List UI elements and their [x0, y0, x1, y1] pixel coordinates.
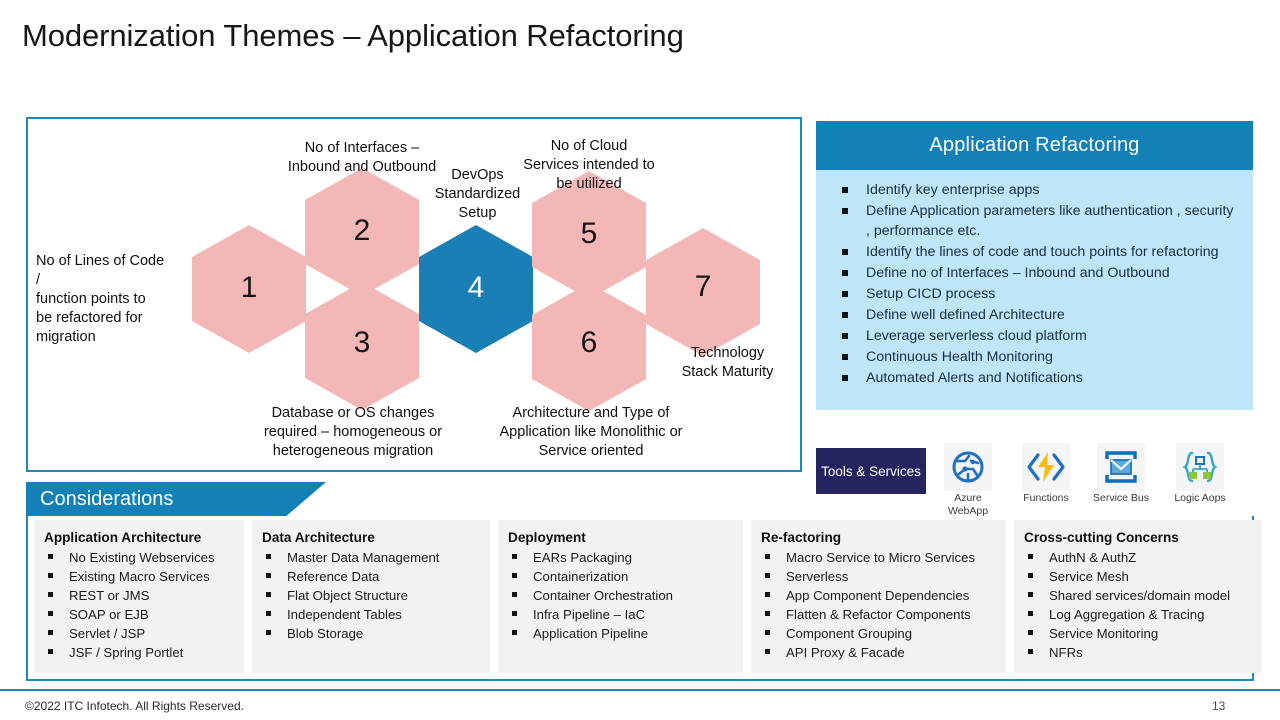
- list-item-label: NFRs: [1049, 645, 1083, 660]
- list-item: Flat Object Structure: [262, 586, 484, 605]
- bullet-square-icon: [842, 354, 848, 360]
- list-item: Containerization: [508, 567, 737, 586]
- card-list: Master Data Management Reference Data Fl…: [262, 548, 484, 643]
- bullet-square-icon: [1028, 554, 1033, 559]
- tool-logic-apps[interactable]: Logic Aops: [1168, 443, 1232, 505]
- list-item: Identify the lines of code and touch poi…: [828, 242, 1241, 262]
- card-title: Data Architecture: [262, 530, 484, 545]
- considerations-card-deployment: Deployment EARs Packaging Containerizati…: [498, 520, 743, 673]
- card-list: Macro Service to Micro Services Serverle…: [761, 548, 1000, 663]
- list-item-label: Component Grouping: [786, 626, 912, 641]
- label-database-os: Database or OS changes required – homoge…: [248, 404, 458, 461]
- list-item: JSF / Spring Portlet: [44, 643, 238, 662]
- list-item-label: Identify the lines of code and touch poi…: [866, 244, 1219, 260]
- bullet-square-icon: [842, 312, 848, 318]
- azure-logic-apps-icon: [1176, 443, 1224, 491]
- list-item: Log Aggregation & Tracing: [1024, 605, 1256, 624]
- tool-label: Service Bus: [1089, 492, 1153, 505]
- card-title: Re-factoring: [761, 530, 1000, 545]
- list-item-label: App Component Dependencies: [786, 588, 969, 603]
- list-item: Continuous Health Monitoring: [828, 347, 1241, 367]
- tool-label: Azure WebApp: [936, 492, 1000, 517]
- tools-and-services-strip: Tools & Services Azure WebApp Functions: [816, 443, 1256, 509]
- tool-label: Logic Aops: [1168, 492, 1232, 505]
- bullet-square-icon: [765, 630, 770, 635]
- list-item-label: Infra Pipeline – IaC: [533, 607, 645, 622]
- list-item-label: Flat Object Structure: [287, 588, 408, 603]
- list-item: Existing Macro Services: [44, 567, 238, 586]
- bullet-square-icon: [48, 649, 53, 654]
- list-item-label: Existing Macro Services: [69, 569, 210, 584]
- azure-functions-icon: [1022, 443, 1070, 491]
- list-item: Application Pipeline: [508, 624, 737, 643]
- bullet-square-icon: [48, 554, 53, 559]
- considerations-card-cross-cutting-concerns: Cross-cutting Concerns AuthN & AuthZ Ser…: [1014, 520, 1262, 673]
- list-item-label: Setup CICD process: [866, 286, 995, 302]
- tool-service-bus[interactable]: Service Bus: [1089, 443, 1153, 505]
- application-refactoring-list: Identify key enterprise apps Define Appl…: [828, 180, 1241, 388]
- application-refactoring-body: Identify key enterprise apps Define Appl…: [816, 170, 1253, 410]
- list-item: Reference Data: [262, 567, 484, 586]
- bullet-square-icon: [765, 573, 770, 578]
- list-item-label: Reference Data: [287, 569, 379, 584]
- tools-services-label: Tools & Services: [816, 448, 926, 494]
- card-list: EARs Packaging Containerization Containe…: [508, 548, 737, 643]
- footer-divider: [0, 689, 1280, 691]
- bullet-square-icon: [266, 630, 271, 635]
- list-item: Service Monitoring: [1024, 624, 1256, 643]
- considerations-card-application-architecture: Application Architecture No Existing Web…: [34, 520, 244, 673]
- list-item-label: REST or JMS: [69, 588, 149, 603]
- azure-webapp-icon: [944, 443, 992, 491]
- list-item-label: No Existing Webservices: [69, 550, 215, 565]
- list-item-label: Blob Storage: [287, 626, 363, 641]
- card-title: Application Architecture: [44, 530, 238, 545]
- list-item-label: JSF / Spring Portlet: [69, 645, 183, 660]
- bullet-square-icon: [1028, 592, 1033, 597]
- bullet-square-icon: [266, 611, 271, 616]
- application-refactoring-panel: Application Refactoring Identify key ent…: [816, 121, 1253, 410]
- list-item-label: Servlet / JSP: [69, 626, 145, 641]
- bullet-square-icon: [266, 554, 271, 559]
- considerations-banner: Considerations: [26, 482, 386, 518]
- list-item: Serverless: [761, 567, 1000, 586]
- bullet-square-icon: [765, 554, 770, 559]
- bullet-square-icon: [842, 333, 848, 339]
- bullet-square-icon: [512, 630, 517, 635]
- tool-label: Functions: [1014, 492, 1078, 505]
- bullet-square-icon: [48, 630, 53, 635]
- bullet-square-icon: [1028, 649, 1033, 654]
- bullet-square-icon: [765, 649, 770, 654]
- bullet-square-icon: [765, 611, 770, 616]
- list-item: Define no of Interfaces – Inbound and Ou…: [828, 263, 1241, 283]
- footer-page-number: 13: [1212, 699, 1225, 713]
- list-item-label: Serverless: [786, 569, 848, 584]
- list-item-label: API Proxy & Facade: [786, 645, 905, 660]
- bullet-square-icon: [266, 573, 271, 578]
- bullet-square-icon: [842, 187, 848, 193]
- list-item: Servlet / JSP: [44, 624, 238, 643]
- list-item-label: Define no of Interfaces – Inbound and Ou…: [866, 265, 1170, 281]
- list-item: App Component Dependencies: [761, 586, 1000, 605]
- list-item-label: Leverage serverless cloud platform: [866, 328, 1087, 344]
- list-item-label: Continuous Health Monitoring: [866, 349, 1053, 365]
- bullet-square-icon: [842, 249, 848, 255]
- list-item-label: Master Data Management: [287, 550, 439, 565]
- list-item: NFRs: [1024, 643, 1256, 662]
- list-item: AuthN & AuthZ: [1024, 548, 1256, 567]
- list-item: Shared services/domain model: [1024, 586, 1256, 605]
- application-refactoring-header: Application Refactoring: [816, 121, 1253, 170]
- list-item-label: Automated Alerts and Notifications: [866, 370, 1083, 386]
- list-item-label: Shared services/domain model: [1049, 588, 1230, 603]
- list-item: Infra Pipeline – IaC: [508, 605, 737, 624]
- bullet-square-icon: [48, 611, 53, 616]
- bullet-square-icon: [512, 573, 517, 578]
- list-item: Component Grouping: [761, 624, 1000, 643]
- card-title: Deployment: [508, 530, 737, 545]
- bullet-square-icon: [512, 554, 517, 559]
- considerations-card-data-architecture: Data Architecture Master Data Management…: [252, 520, 490, 673]
- list-item-label: AuthN & AuthZ: [1049, 550, 1136, 565]
- list-item: SOAP or EJB: [44, 605, 238, 624]
- list-item-label: EARs Packaging: [533, 550, 632, 565]
- list-item: Automated Alerts and Notifications: [828, 368, 1241, 388]
- list-item: API Proxy & Facade: [761, 643, 1000, 662]
- list-item: Macro Service to Micro Services: [761, 548, 1000, 567]
- considerations-card-re-factoring: Re-factoring Macro Service to Micro Serv…: [751, 520, 1006, 673]
- considerations-banner-title: Considerations: [40, 488, 173, 511]
- bullet-square-icon: [842, 375, 848, 381]
- bullet-square-icon: [1028, 611, 1033, 616]
- bullet-square-icon: [266, 592, 271, 597]
- tool-azure-functions[interactable]: Functions: [1014, 443, 1078, 505]
- list-item-label: Define well defined Architecture: [866, 307, 1065, 323]
- page-title: Modernization Themes – Application Refac…: [22, 18, 684, 54]
- list-item-label: Define Application parameters like authe…: [866, 203, 1234, 239]
- list-item: Leverage serverless cloud platform: [828, 326, 1241, 346]
- list-item: REST or JMS: [44, 586, 238, 605]
- list-item: Master Data Management: [262, 548, 484, 567]
- list-item: Independent Tables: [262, 605, 484, 624]
- bullet-square-icon: [842, 270, 848, 276]
- list-item-label: Service Mesh: [1049, 569, 1129, 584]
- list-item-label: Container Orchestration: [533, 588, 673, 603]
- list-item: Define Application parameters like authe…: [828, 201, 1241, 242]
- list-item-label: SOAP or EJB: [69, 607, 149, 622]
- list-item-label: Macro Service to Micro Services: [786, 550, 975, 565]
- list-item: EARs Packaging: [508, 548, 737, 567]
- bullet-square-icon: [48, 592, 53, 597]
- list-item-label: Service Monitoring: [1049, 626, 1158, 641]
- card-title: Cross-cutting Concerns: [1024, 530, 1256, 545]
- bullet-square-icon: [842, 291, 848, 297]
- bullet-square-icon: [842, 208, 848, 214]
- card-list: No Existing Webservices Existing Macro S…: [44, 548, 238, 663]
- list-item: Container Orchestration: [508, 586, 737, 605]
- list-item: Identify key enterprise apps: [828, 180, 1241, 200]
- list-item-label: Containerization: [533, 569, 628, 584]
- list-item: No Existing Webservices: [44, 548, 238, 567]
- bullet-square-icon: [765, 592, 770, 597]
- list-item: Service Mesh: [1024, 567, 1256, 586]
- label-cloud-services: No of Cloud Services intended to be util…: [498, 137, 680, 194]
- label-technology-stack: Technology Stack Maturity: [664, 344, 791, 382]
- bullet-square-icon: [1028, 630, 1033, 635]
- bullet-square-icon: [48, 573, 53, 578]
- list-item-label: Identify key enterprise apps: [866, 182, 1040, 198]
- list-item: Setup CICD process: [828, 284, 1241, 304]
- list-item: Define well defined Architecture: [828, 305, 1241, 325]
- list-item-label: Application Pipeline: [533, 626, 648, 641]
- label-architecture-type: Architecture and Type of Application lik…: [485, 404, 697, 461]
- bullet-square-icon: [1028, 573, 1033, 578]
- tool-azure-webapp[interactable]: Azure WebApp: [936, 443, 1000, 517]
- list-item-label: Independent Tables: [287, 607, 402, 622]
- bullet-square-icon: [512, 611, 517, 616]
- card-list: AuthN & AuthZ Service Mesh Shared servic…: [1024, 548, 1256, 663]
- footer-copyright: ©2022 ITC Infotech. All Rights Reserved.: [25, 699, 244, 713]
- azure-service-bus-icon: [1097, 443, 1145, 491]
- list-item-label: Flatten & Refactor Components: [786, 607, 971, 622]
- list-item-label: Log Aggregation & Tracing: [1049, 607, 1204, 622]
- list-item: Flatten & Refactor Components: [761, 605, 1000, 624]
- list-item: Blob Storage: [262, 624, 484, 643]
- label-lines-of-code: No of Lines of Code / function points to…: [36, 252, 186, 347]
- bullet-square-icon: [512, 592, 517, 597]
- considerations-panel: Application Architecture No Existing Web…: [26, 516, 1254, 681]
